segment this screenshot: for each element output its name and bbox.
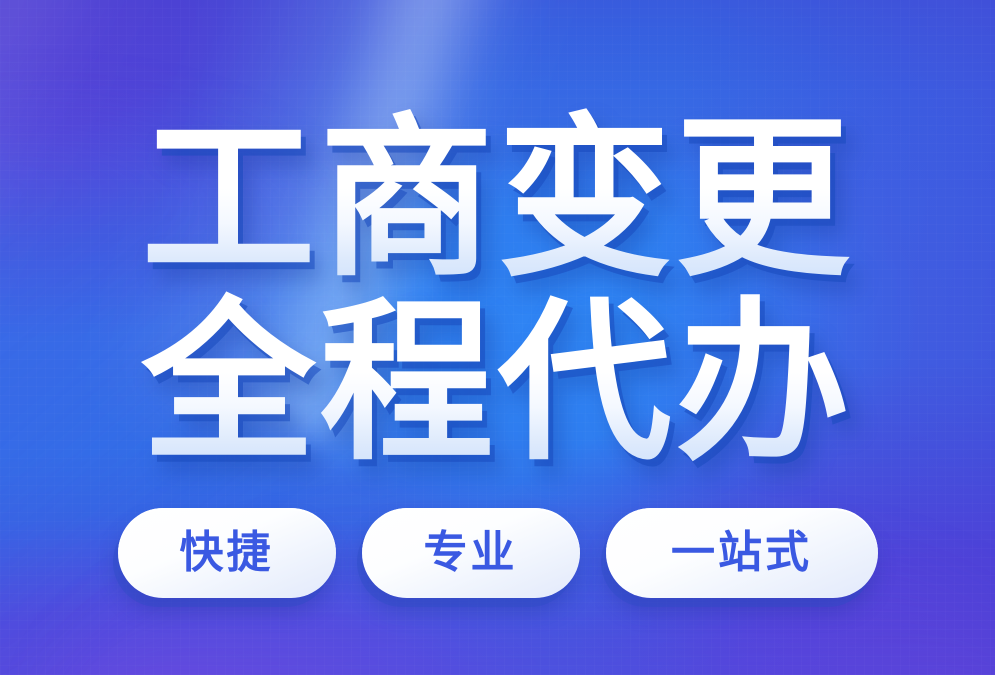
headline-line-2: 全程代办 <box>0 288 995 480</box>
feature-pill-label: 一站式 <box>671 531 812 575</box>
feature-pill-label: 快捷 <box>180 531 274 575</box>
feature-pill-yizhanshi[interactable]: 一站式 <box>606 508 878 598</box>
headline-line-1: 工商变更 <box>0 104 995 296</box>
banner-content: 工商变更 全程代办 快捷 专业 一站式 <box>0 0 995 675</box>
feature-pill-kuaijie[interactable]: 快捷 <box>118 508 336 598</box>
promo-banner: 工商变更 全程代办 快捷 专业 一站式 <box>0 0 995 675</box>
headline: 工商变更 全程代办 <box>0 0 995 480</box>
feature-pill-row: 快捷 专业 一站式 <box>118 508 878 598</box>
feature-pill-label: 专业 <box>424 531 518 575</box>
feature-pill-zhuanye[interactable]: 专业 <box>362 508 580 598</box>
